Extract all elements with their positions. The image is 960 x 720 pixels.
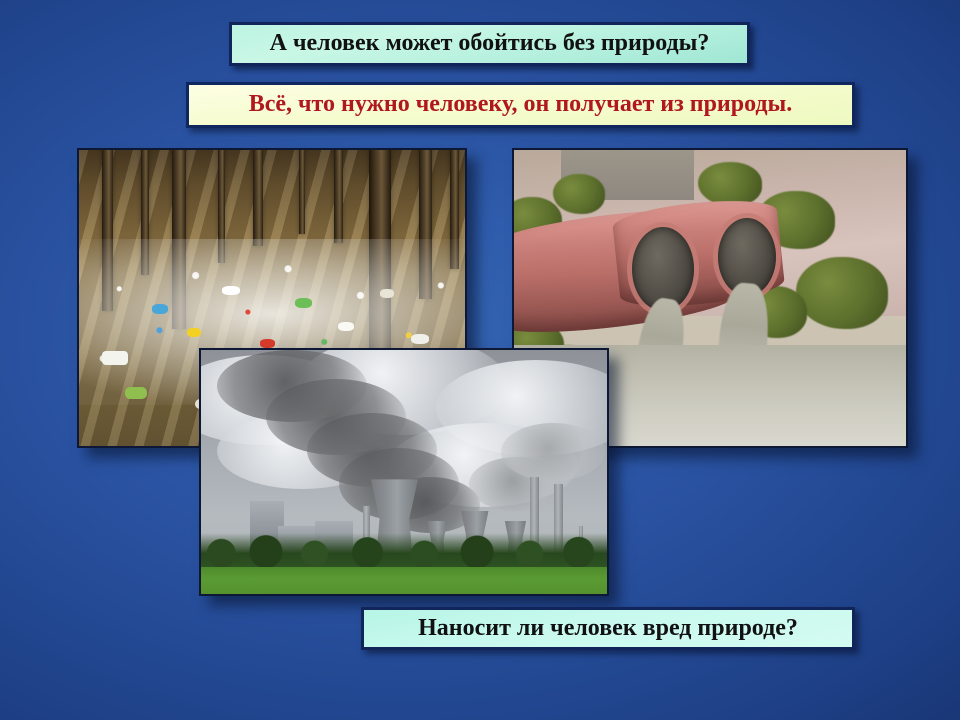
bush xyxy=(796,257,888,329)
litter-item xyxy=(152,304,168,314)
bottom-question-text: Наносит ли человек вред природе? xyxy=(418,616,798,641)
litter-item xyxy=(222,286,240,295)
bush xyxy=(553,174,605,214)
power-plant-smoke-photo[interactable]: Электростанция с градирнями и трубами, в… xyxy=(199,348,609,596)
litter-item xyxy=(411,334,429,344)
bush xyxy=(698,162,762,206)
litter-item xyxy=(295,298,312,308)
tree-trunk xyxy=(299,150,305,234)
slide-canvas: Лесная свалка: куча пластикового мусора … xyxy=(0,0,960,720)
treeline xyxy=(201,533,607,567)
subtitle-text-box: Всё, что нужно человеку, он получает из … xyxy=(186,82,855,128)
power-plant-artwork xyxy=(201,350,607,594)
tree-trunk xyxy=(253,150,263,246)
litter-item xyxy=(102,351,128,365)
subtitle-text: Всё, что нужно человеку, он получает из … xyxy=(249,92,793,117)
litter-item xyxy=(125,387,147,399)
green-field xyxy=(201,567,607,594)
bottom-question-text-box: Наносит ли человек вред природе? xyxy=(361,607,855,650)
litter-item xyxy=(187,328,201,337)
litter-item xyxy=(338,322,354,331)
title-text: А человек может обойтись без природы? xyxy=(270,31,710,56)
litter-item xyxy=(380,289,394,298)
smoke-plume xyxy=(217,350,367,422)
tree-trunk xyxy=(334,150,343,243)
title-text-box: А человек может обойтись без природы? xyxy=(229,22,750,66)
